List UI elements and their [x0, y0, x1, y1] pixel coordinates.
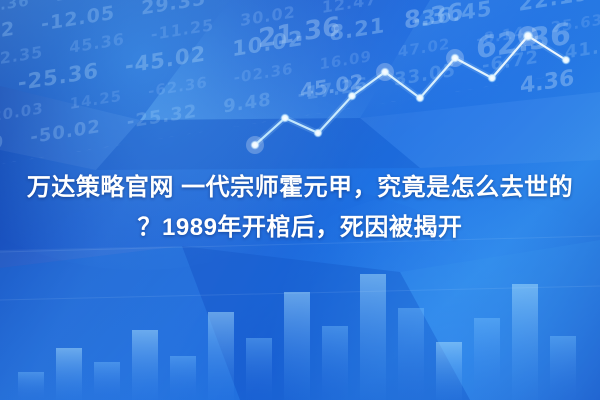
polygon-facets-bottom [0, 240, 600, 400]
ghost-large-number: 21.36 [258, 11, 340, 54]
ghost-number: -7.85 [529, 71, 574, 94]
ghost-number: -25.32 [127, 101, 197, 133]
ghost-number-row: -02.0322.36-11.045.62-28.4713.9936.21-7.… [0, 67, 600, 164]
ghost-number: 16.09 [319, 47, 371, 73]
ghost-number: 30.02 [240, 2, 296, 30]
ghost-number: 22.36 [74, 142, 123, 164]
ghost-number: -02.03 [0, 154, 48, 164]
ghost-number: -62.35 [0, 42, 43, 71]
ghost-number: 45.62 [0, 18, 15, 50]
ghost-number: -25.36 [18, 58, 99, 95]
ghost-number: -62.36 [148, 73, 208, 100]
ghost-number: 8.21 [330, 13, 386, 46]
line-chart [246, 26, 571, 154]
ghost-number: 12.47 [322, 0, 378, 17]
ghost-number: 1.89 [0, 131, 4, 160]
ghost-large-number: 45.02 [300, 69, 363, 103]
ghost-large-number: 8.36 [404, 0, 463, 35]
ghost-number-row: -25.361.89-45.0262.36-12.0530.148.62-44.… [0, 0, 600, 19]
ghost-number: 33.05 [394, 60, 456, 91]
ghost-number: 14.25 [70, 87, 122, 113]
ghost-number: 13.99 [378, 94, 427, 118]
ghost-number-grid: -25.361.89-45.0262.36-12.0530.148.62-44.… [0, 0, 600, 164]
ghost-number: 10.02 [232, 26, 303, 61]
ghost-number: 47.02 [398, 35, 450, 61]
headline-line-2: ？1989年开棺后，死因被揭开 [10, 208, 590, 248]
headline-line-1: 万达策略官网 一代宗师霍元甲，究竟是怎么去世的 [10, 168, 590, 208]
ghost-number: 1.89 [56, 0, 97, 5]
ghost-number: 36.21 [453, 82, 502, 106]
ghost-large-number: 4.36 [520, 66, 574, 100]
ghost-number: 22.19 [519, 0, 590, 16]
ghost-number: -28.47 [296, 106, 352, 131]
ghost-number: -12.05 [41, 2, 115, 36]
ghost-number: -25.36 [0, 0, 30, 19]
ghost-number: -36.45 [411, 0, 492, 33]
ghost-number: -6.72 [482, 47, 539, 77]
ghost-number-row: 1.89-25.36-45.0210.028.21-36.4522.194.60… [0, 0, 600, 108]
ghost-number: 5.62 [231, 119, 270, 141]
ghost-number: 29.35 [141, 0, 206, 20]
ghost-number-row: -20.0314.25-62.36-02.3616.0947.02-8.1425… [0, 11, 600, 127]
ghost-number: -45.02 [232, 0, 306, 5]
ghost-number-row: 45.62-12.0529.35-45.024.3621.07-5.3360.1… [0, 0, 600, 50]
polygon-facets [0, 0, 600, 170]
headline: 万达策略官网 一代宗师霍元甲，究竟是怎么去世的 ？1989年开棺后，死因被揭开 [0, 168, 600, 248]
ghost-number: -2.36 [403, 0, 454, 4]
ghost-number: -11.04 [149, 129, 205, 154]
ghost-number-row: 1.89-50.02-25.329.48-17.2633.05-6.7241.1… [0, 37, 600, 160]
ghost-number: -45.02 [125, 41, 206, 78]
ghost-number: -02.36 [234, 60, 294, 87]
promo-banner: -25.361.89-45.0262.36-12.0530.148.62-44.… [0, 0, 600, 400]
bar-chart [18, 274, 576, 400]
ghost-number-row: -62.3545.36-11.2530.0212.47-2.3655.10-19… [0, 0, 600, 71]
ghost-number: 9.48 [223, 89, 271, 118]
ghost-number: -11.25 [151, 15, 214, 44]
ghost-number: 41.18 [565, 33, 600, 64]
ghost-number: -20.03 [0, 99, 44, 126]
ghost-number: 25.63 [551, 10, 600, 36]
ghost-number: -50.02 [30, 116, 100, 148]
ghost-number: -17.26 [298, 74, 368, 106]
ghost-large-number: 62.36 [476, 16, 571, 66]
ghost-number: 45.36 [69, 29, 125, 57]
ghost-number: -8.14 [476, 23, 524, 49]
